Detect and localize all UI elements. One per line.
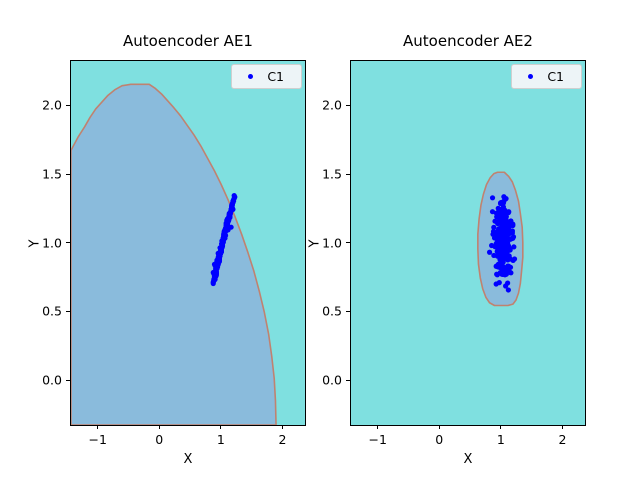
y-tick-mark <box>346 242 350 243</box>
x-axis-label-ae2: X <box>350 452 586 467</box>
legend-marker-c1 <box>528 74 533 79</box>
chart-title-ae1: Autoencoder AE1 <box>70 32 306 50</box>
chart-title-ae2: Autoencoder AE2 <box>350 32 586 50</box>
y-tick-mark <box>346 105 350 106</box>
subplot-ae1: Autoencoder AE1 C1 <box>70 60 306 426</box>
y-tick-label-ae2: 0.5 <box>306 304 342 319</box>
y-tick-label-ae1: 0.5 <box>26 304 62 319</box>
figure-canvas: Autoencoder AE1 C1 X Y Autoencoder AE2 C… <box>0 0 640 480</box>
x-tick-label-ae1: 2 <box>278 432 286 447</box>
x-tick-mark <box>159 425 160 429</box>
y-tick-mark <box>346 311 350 312</box>
subplot-ae2: Autoencoder AE2 C1 <box>350 60 586 426</box>
x-tick-mark <box>562 425 563 429</box>
x-tick-mark <box>500 425 501 429</box>
x-tick-mark <box>377 425 378 429</box>
legend-label-c1: C1 <box>547 69 564 84</box>
legend-ae1[interactable]: C1 <box>231 64 302 89</box>
x-axis-label-ae1: X <box>70 452 306 467</box>
y-tick-label-ae1: 2.0 <box>26 98 62 113</box>
x-tick-label-ae2: 0 <box>435 432 443 447</box>
x-tick-label-ae1: 1 <box>217 432 225 447</box>
plot-area-ae2[interactable] <box>350 60 586 426</box>
legend-marker-c1 <box>248 74 253 79</box>
y-tick-label-ae1: 0.0 <box>26 373 62 388</box>
plot-area-ae1[interactable] <box>70 60 306 426</box>
x-tick-mark <box>97 425 98 429</box>
y-tick-mark <box>66 380 70 381</box>
x-tick-label-ae1: −1 <box>88 432 106 447</box>
y-tick-mark <box>346 174 350 175</box>
y-tick-mark <box>66 174 70 175</box>
x-tick-mark <box>439 425 440 429</box>
x-tick-label-ae2: 2 <box>558 432 566 447</box>
x-tick-mark <box>220 425 221 429</box>
x-tick-label-ae2: 1 <box>497 432 505 447</box>
y-tick-mark <box>66 242 70 243</box>
decision-region-ae1 <box>71 61 305 425</box>
y-tick-mark <box>66 311 70 312</box>
decision-region-ae2 <box>351 61 585 425</box>
x-tick-label-ae2: −1 <box>368 432 386 447</box>
y-tick-label-ae2: 0.0 <box>306 373 342 388</box>
y-tick-mark <box>66 105 70 106</box>
legend-label-c1: C1 <box>267 69 284 84</box>
y-tick-label-ae2: 1.0 <box>306 235 342 250</box>
y-tick-mark <box>346 380 350 381</box>
y-tick-label-ae1: 1.5 <box>26 167 62 182</box>
x-tick-label-ae1: 0 <box>155 432 163 447</box>
y-tick-label-ae1: 1.0 <box>26 235 62 250</box>
x-tick-mark <box>282 425 283 429</box>
y-tick-label-ae2: 2.0 <box>306 98 342 113</box>
y-tick-label-ae2: 1.5 <box>306 167 342 182</box>
legend-ae2[interactable]: C1 <box>511 64 582 89</box>
